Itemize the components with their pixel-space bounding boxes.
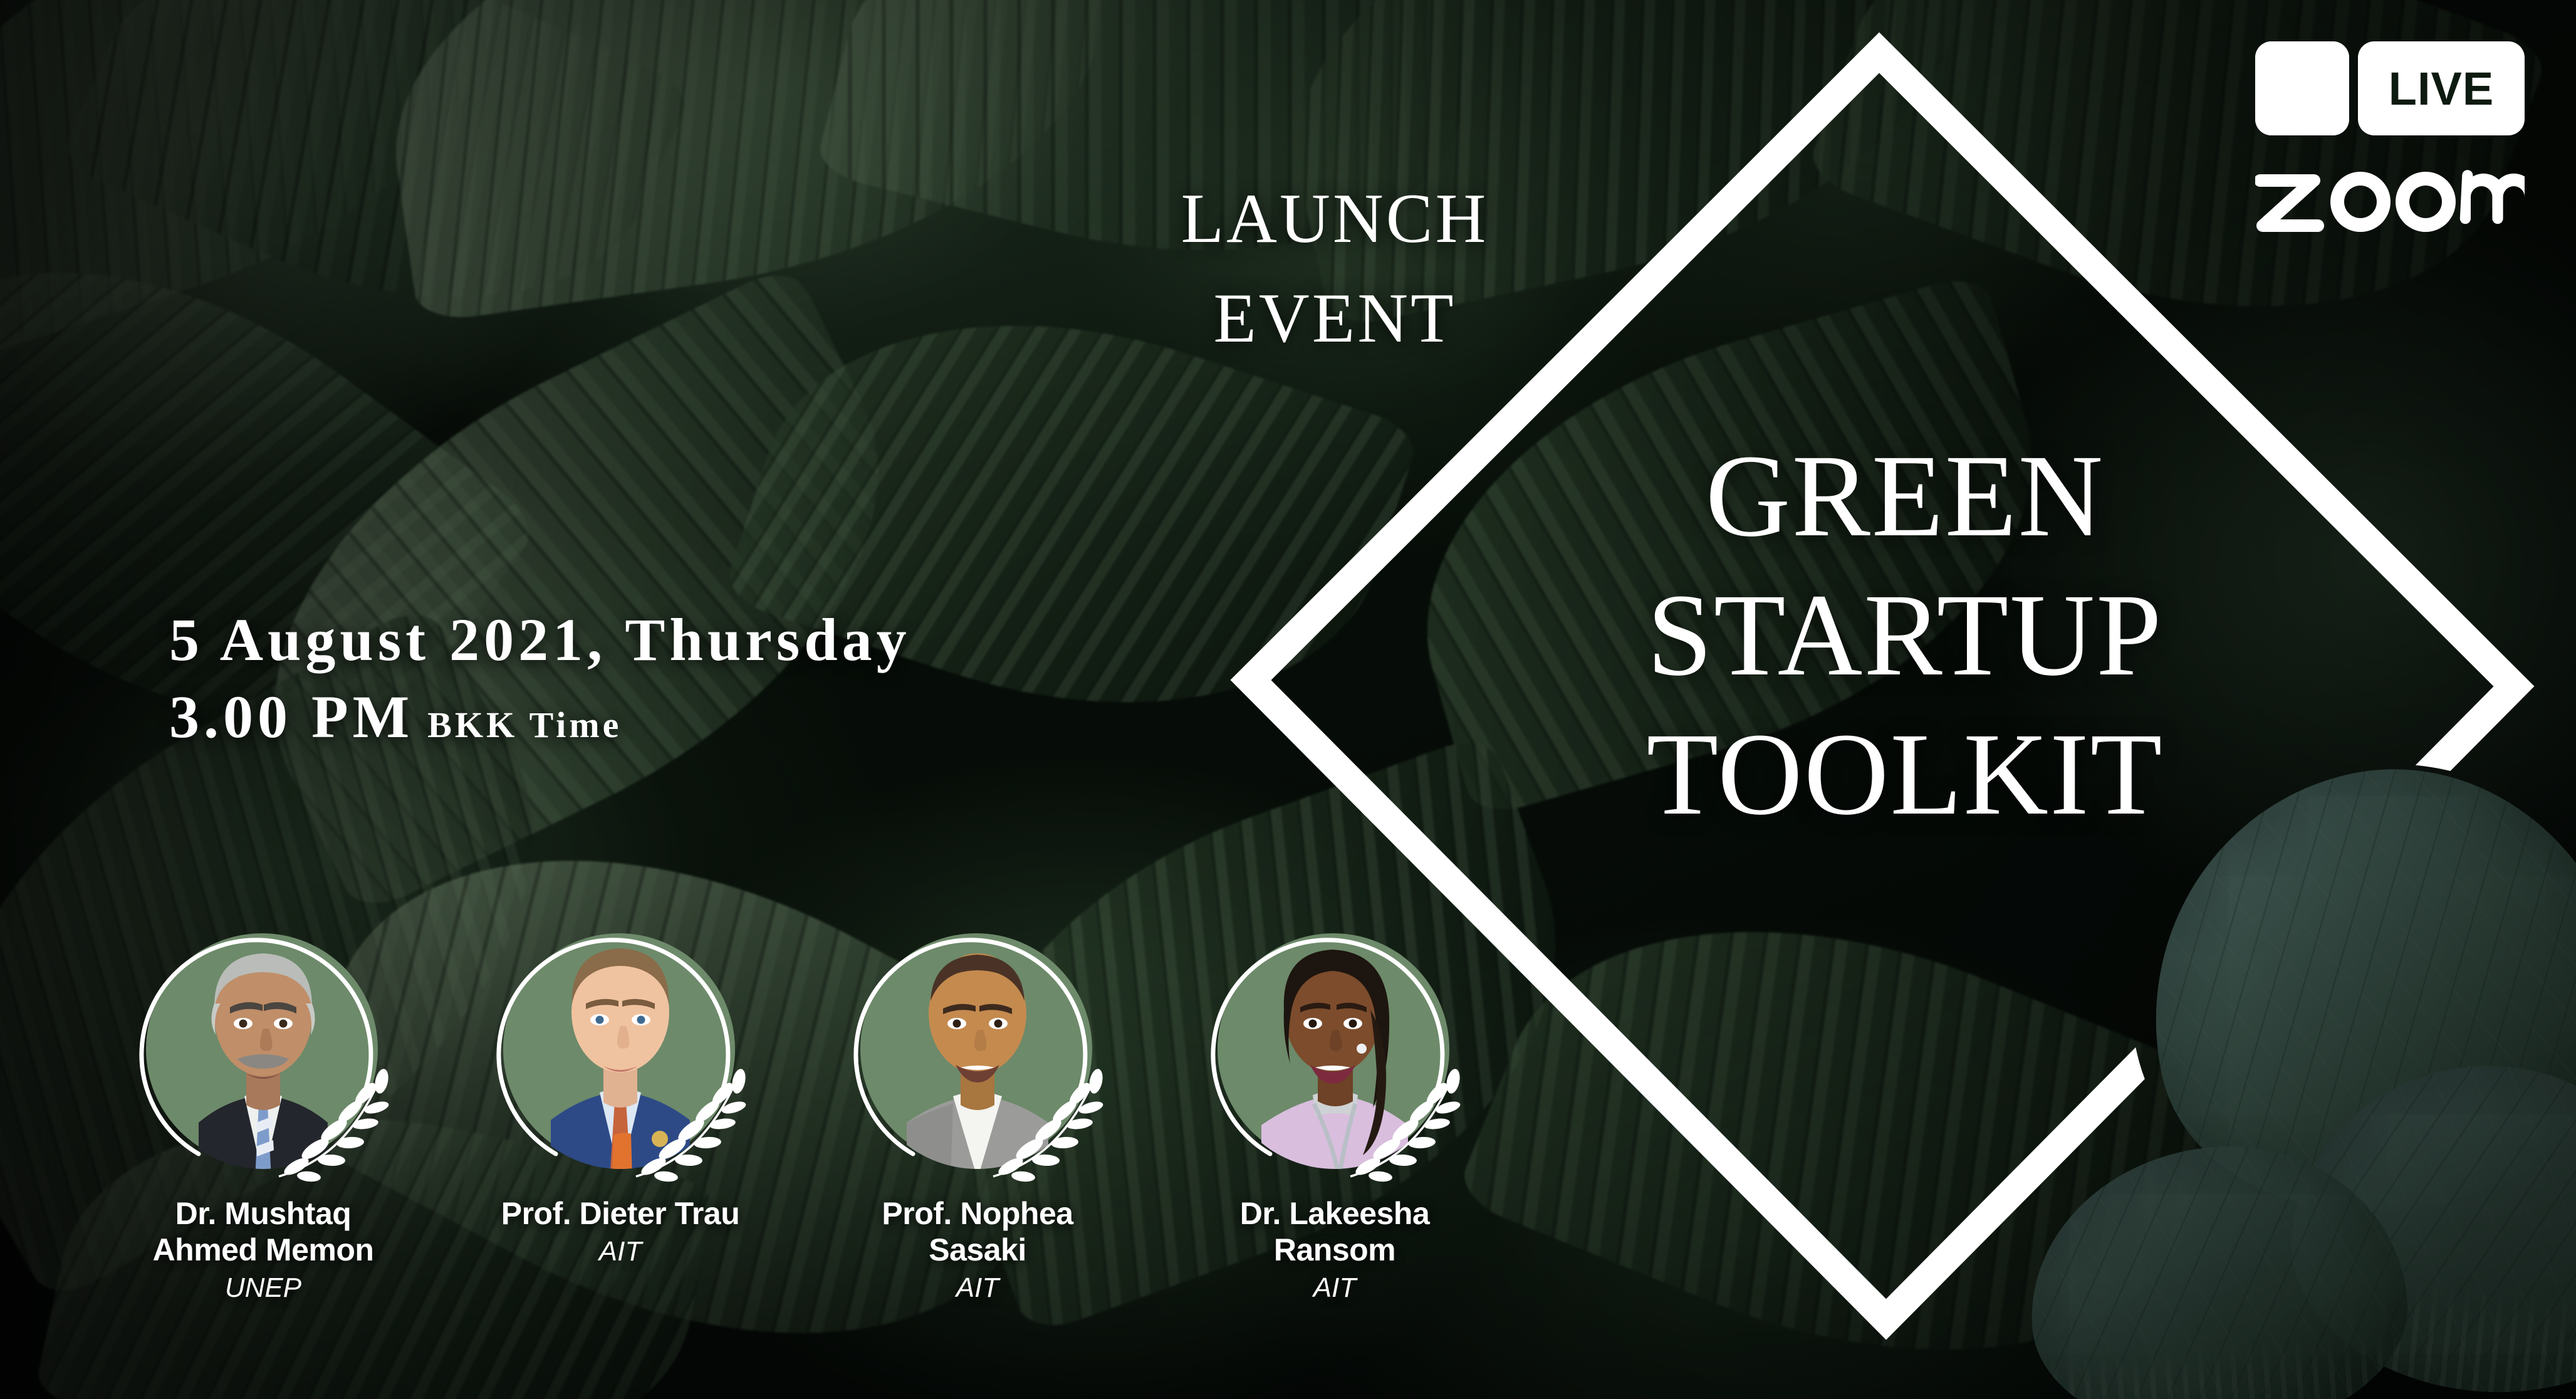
speaker-name: Dr. Mushtaq Ahmed Memon — [119, 1195, 407, 1268]
speaker-name-line-1: Prof. Nophea — [833, 1195, 1122, 1232]
broadcast-logos: LIVE — [2255, 41, 2525, 232]
facebook-live-badge[interactable]: LIVE — [2255, 41, 2525, 135]
laurel-icon — [628, 1054, 760, 1185]
zoom-logo[interactable] — [2255, 152, 2525, 232]
live-badge[interactable]: LIVE — [2358, 41, 2525, 135]
speaker-org: AIT — [833, 1273, 1122, 1303]
speaker-photo — [128, 912, 398, 1182]
event-time: 3.00 PM — [169, 683, 414, 750]
event-poster: LAUNCH EVENT GREEN STARTUP TOOLKIT 5 Aug… — [0, 0, 2576, 1399]
kicker-line-1: LAUNCH — [1115, 169, 1554, 269]
laurel-icon — [1343, 1054, 1474, 1185]
speaker-card: Prof. Dieter Trau AIT — [476, 912, 764, 1267]
speaker-name-line-2: Ahmed Memon — [119, 1232, 407, 1268]
speaker-card: Dr. Mushtaq Ahmed Memon UNEP — [119, 912, 407, 1303]
live-label: LIVE — [2389, 62, 2494, 115]
speaker-name: Prof. Dieter Trau — [476, 1195, 764, 1232]
speaker-card: Prof. Nophea Sasaki AIT — [833, 912, 1122, 1303]
speaker-name-line-2: Sasaki — [833, 1232, 1122, 1268]
speaker-name-line-2: Ransom — [1191, 1232, 1479, 1268]
event-date: 5 August 2021, Thursday — [169, 602, 911, 679]
facebook-f-icon[interactable] — [2255, 41, 2349, 135]
event-timezone: BKK Time — [427, 705, 622, 745]
speaker-photo — [1200, 912, 1469, 1182]
title-line-2: STARTUP — [1535, 565, 2275, 705]
speaker-org: AIT — [476, 1237, 764, 1267]
speaker-name: Prof. Nophea Sasaki — [833, 1195, 1122, 1268]
speaker-name-line-1: Prof. Dieter Trau — [476, 1195, 764, 1232]
speaker-org: UNEP — [119, 1273, 407, 1303]
speaker-org: AIT — [1191, 1273, 1479, 1303]
speaker-photo — [843, 912, 1112, 1182]
page-title: GREEN STARTUP TOOLKIT — [1535, 426, 2275, 843]
laurel-icon — [986, 1054, 1117, 1185]
speaker-name-line-1: Dr. Lakeesha — [1191, 1195, 1479, 1232]
speaker-card: Dr. Lakeesha Ransom AIT — [1191, 912, 1479, 1303]
speaker-list: Dr. Mushtaq Ahmed Memon UNEP — [119, 912, 1516, 1363]
kicker-text: LAUNCH EVENT — [1115, 169, 1554, 369]
title-line-3: TOOLKIT — [1535, 705, 2275, 844]
kicker-line-2: EVENT — [1115, 269, 1554, 369]
speaker-name: Dr. Lakeesha Ransom — [1191, 1195, 1479, 1268]
event-datetime: 5 August 2021, Thursday 3.00 PMBKK Time — [169, 602, 911, 756]
speaker-photo — [486, 912, 755, 1182]
event-time-row: 3.00 PMBKK Time — [169, 679, 911, 756]
speaker-name-line-1: Dr. Mushtaq — [119, 1195, 407, 1232]
laurel-icon — [271, 1054, 403, 1185]
title-line-1: GREEN — [1535, 426, 2275, 565]
